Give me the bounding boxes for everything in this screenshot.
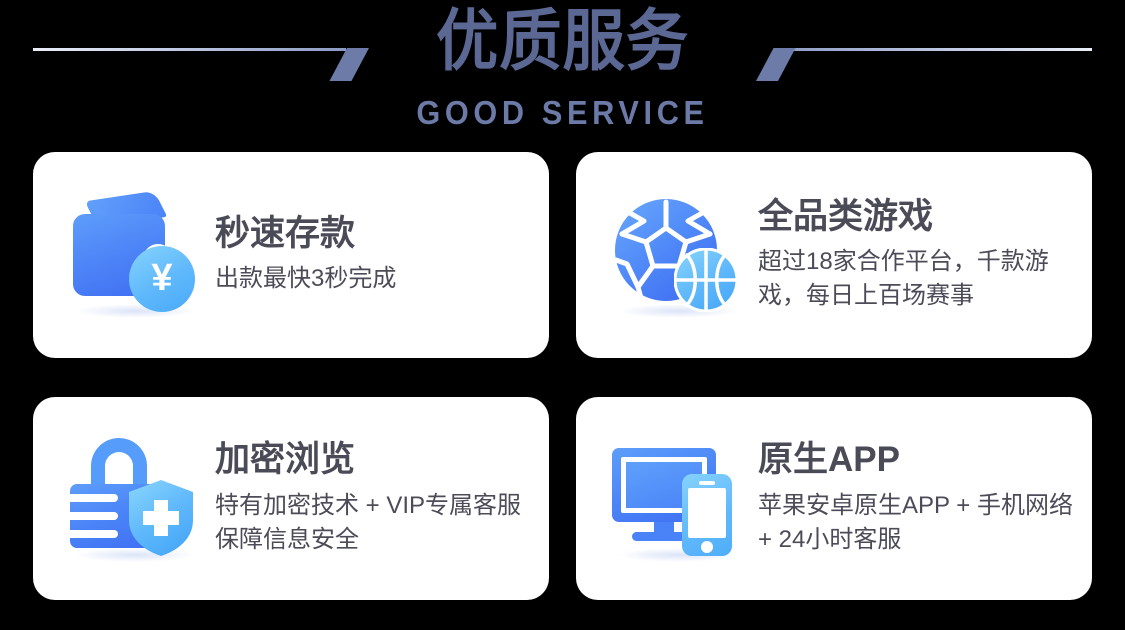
monitor-phone-icon xyxy=(610,434,750,564)
card-description: 超过18家合作平台，千款游戏，每日上百场赛事 xyxy=(758,245,1074,313)
feature-card-deposit[interactable]: ¥ 秒速存款 出款最快3秒完成 xyxy=(33,152,549,358)
card-text: 加密浏览 特有加密技术 + VIP专属客服保障信息安全 xyxy=(215,440,549,556)
yen-coin-icon: ¥ xyxy=(129,246,195,312)
feature-card-native-app[interactable]: 原生APP 苹果安卓原生APP + 手机网络 + 24小时客服 xyxy=(576,397,1092,600)
feature-card-encryption[interactable]: 加密浏览 特有加密技术 + VIP专属客服保障信息安全 xyxy=(33,397,549,600)
card-description: 苹果安卓原生APP + 手机网络 + 24小时客服 xyxy=(758,489,1074,557)
card-title: 原生APP xyxy=(758,440,1074,479)
feature-card-games[interactable]: 全品类游戏 超过18家合作平台，千款游戏，每日上百场赛事 xyxy=(576,152,1092,358)
phone-speaker xyxy=(699,481,715,485)
card-text: 秒速存款 出款最快3秒完成 xyxy=(215,214,549,296)
card-text: 全品类游戏 超过18家合作平台，千款游戏，每日上百场赛事 xyxy=(758,197,1092,313)
card-description: 出款最快3秒完成 xyxy=(215,262,531,296)
card-title: 加密浏览 xyxy=(215,440,531,479)
lock-shield-icon xyxy=(67,434,207,564)
card-title: 全品类游戏 xyxy=(758,197,1074,236)
feature-card-grid: ¥ 秒速存款 出款最快3秒完成 xyxy=(33,152,1092,600)
lock-slot-icon xyxy=(70,494,118,502)
basketball-icon xyxy=(674,248,738,312)
card-text: 原生APP 苹果安卓原生APP + 手机网络 + 24小时客服 xyxy=(758,440,1092,556)
lock-slot-icon xyxy=(70,530,118,538)
card-description: 特有加密技术 + VIP专属客服保障信息安全 xyxy=(215,489,531,557)
phone-home-button xyxy=(701,541,713,553)
smartphone-icon xyxy=(682,474,732,556)
page-title: 优质服务 xyxy=(39,8,1085,75)
page-subtitle: GOOD SERVICE xyxy=(39,96,1085,129)
soccer-basketball-icon xyxy=(610,190,750,320)
yen-symbol: ¥ xyxy=(151,259,172,297)
page-header: 优质服务 GOOD SERVICE xyxy=(0,0,1125,145)
shield-plus-icon xyxy=(125,478,197,558)
card-title: 秒速存款 xyxy=(215,214,531,253)
lock-slot-icon xyxy=(70,512,118,520)
wallet-yen-icon: ¥ xyxy=(67,190,207,320)
phone-screen xyxy=(688,488,726,538)
